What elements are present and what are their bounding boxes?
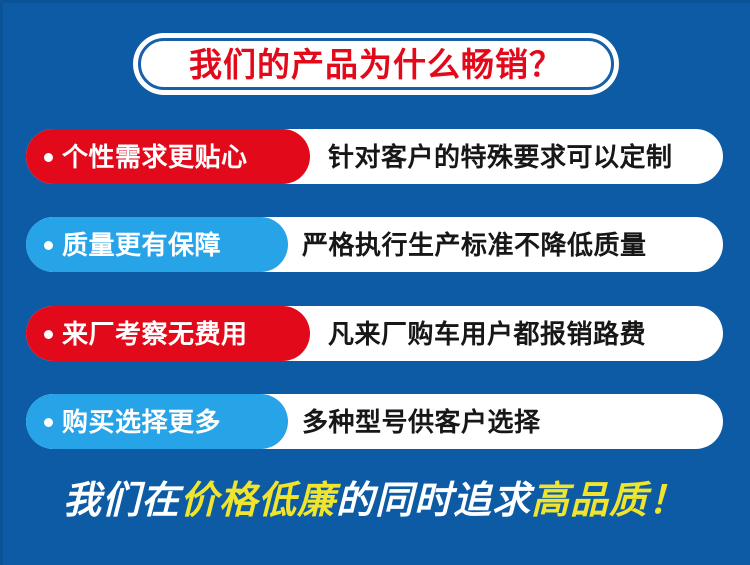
feature-row: 个性需求更贴心 针对客户的特殊要求可以定制: [26, 129, 723, 184]
footer-slogan-highlight-2: 高品质！: [531, 480, 687, 522]
footer-slogan: 我们在价格低廉的同时追求高品质！: [0, 482, 750, 520]
feature-row: 质量更有保障 严格执行生产标准不降低质量: [26, 217, 723, 272]
footer-slogan-part-2: 的同时追求: [336, 480, 531, 522]
feature-label: 购买选择更多: [62, 409, 221, 435]
feature-row-pill: 购买选择更多: [26, 394, 288, 449]
feature-row: 来厂考察无费用 凡来厂购车用户都报销路费: [26, 306, 723, 361]
bullet-dot-icon: [44, 241, 53, 250]
feature-description: 严格执行生产标准不降低质量: [302, 217, 647, 272]
left-edge-strip: [0, 0, 3, 565]
top-edge-strip: [0, 0, 750, 3]
feature-row-pill: 质量更有保障: [26, 217, 288, 272]
bullet-dot-icon: [44, 418, 53, 427]
footer-slogan-part-1: 我们在: [63, 480, 180, 522]
feature-label: 个性需求更贴心: [62, 144, 248, 170]
feature-label: 来厂考察无费用: [62, 321, 248, 347]
feature-description: 多种型号供客户选择: [302, 394, 541, 449]
headline-pill: 我们的产品为什么畅销？: [133, 33, 619, 95]
bullet-dot-icon: [44, 330, 53, 339]
headline-text: 我们的产品为什么畅销？: [189, 48, 563, 81]
bullet-dot-icon: [44, 153, 53, 162]
feature-row-pill: 来厂考察无费用: [26, 306, 310, 361]
feature-row: 购买选择更多 多种型号供客户选择: [26, 394, 723, 449]
feature-row-pill: 个性需求更贴心: [26, 129, 310, 184]
feature-description: 针对客户的特殊要求可以定制: [328, 129, 673, 184]
promo-poster: 我们的产品为什么畅销？ 个性需求更贴心 针对客户的特殊要求可以定制 质量更有保障…: [0, 0, 750, 565]
feature-description: 凡来厂购车用户都报销路费: [328, 306, 646, 361]
feature-label: 质量更有保障: [62, 232, 221, 258]
footer-slogan-highlight-1: 价格低廉: [180, 480, 336, 522]
